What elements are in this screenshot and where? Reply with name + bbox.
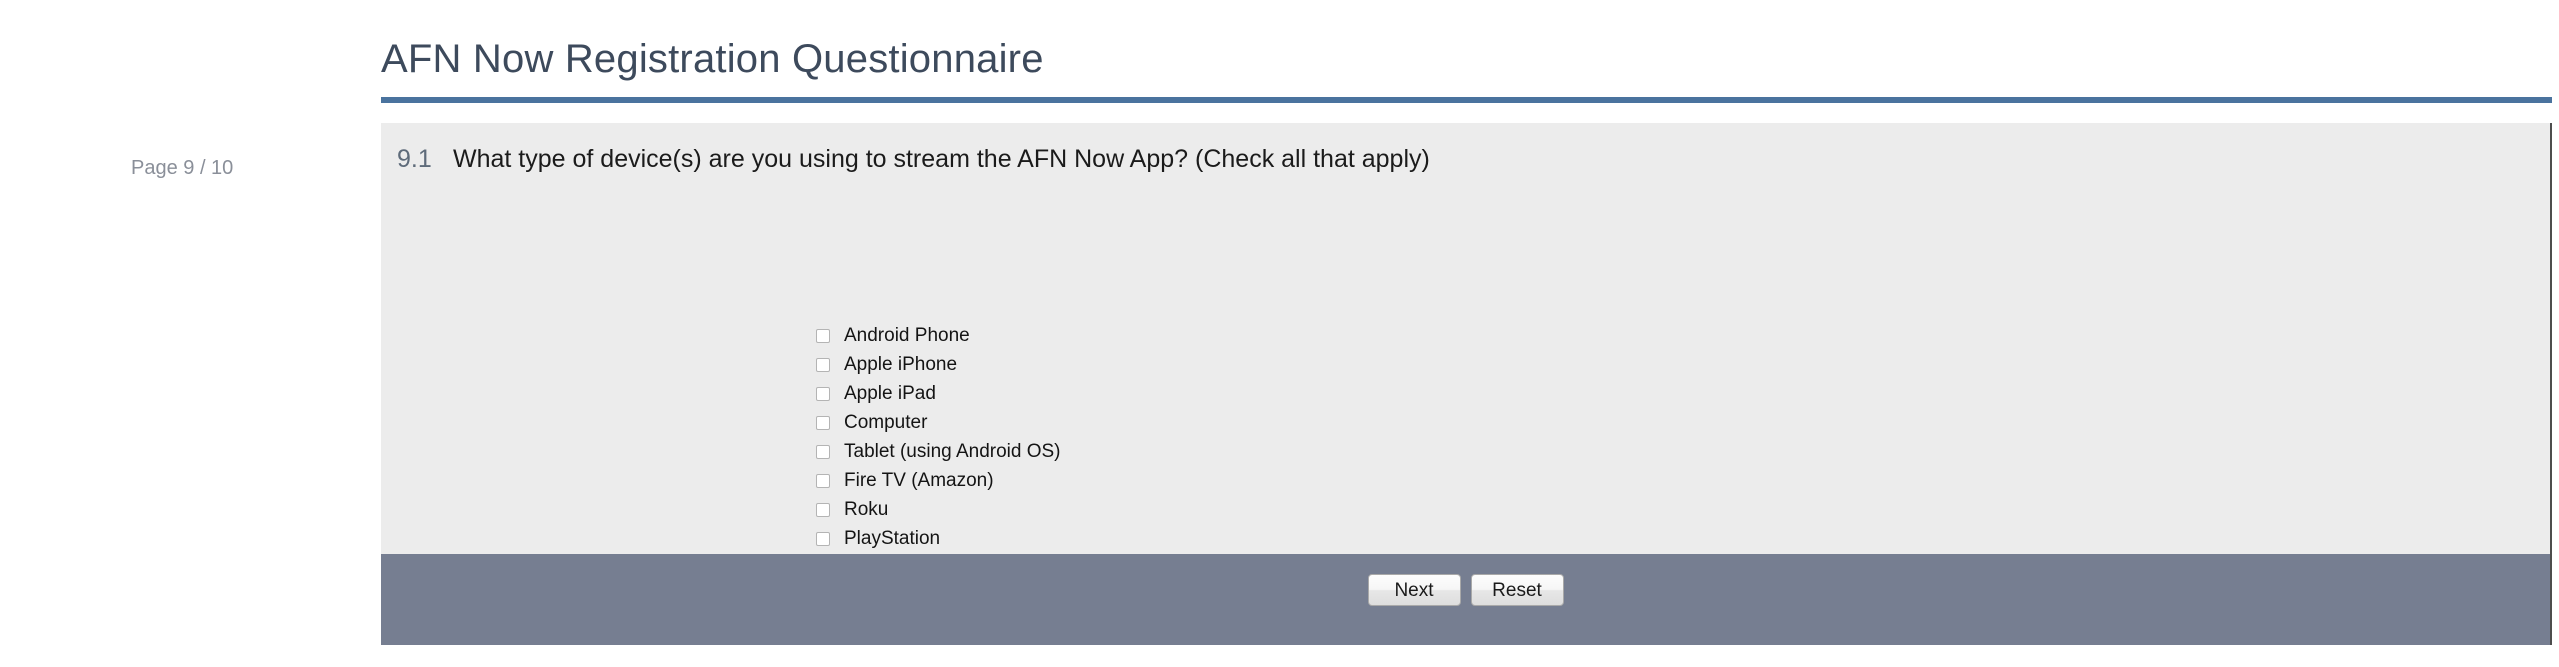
option-label: Computer [844, 413, 927, 432]
page-title: AFN Now Registration Questionnaire [381, 36, 1044, 82]
question-panel: 9.1 What type of device(s) are you using… [381, 123, 2552, 554]
checkbox-icon[interactable] [816, 445, 830, 459]
footer-bar: Next Reset [381, 554, 2552, 645]
option-label: Tablet (using Android OS) [844, 442, 1061, 461]
option-row[interactable]: Tablet (using Android OS) [816, 437, 1136, 466]
checkbox-icon[interactable] [816, 503, 830, 517]
question-number: 9.1 [397, 145, 453, 174]
question-text: What type of device(s) are you using to … [453, 145, 1430, 174]
option-row[interactable]: Apple iPad [816, 379, 1136, 408]
checkbox-icon[interactable] [816, 358, 830, 372]
option-row[interactable]: Android Phone [816, 321, 1136, 350]
option-label: Fire TV (Amazon) [844, 471, 994, 490]
page-counter: Page 9 / 10 [131, 157, 233, 180]
checkbox-icon[interactable] [816, 387, 830, 401]
title-divider [381, 97, 2552, 103]
option-row[interactable]: Fire TV (Amazon) [816, 466, 1136, 495]
option-row[interactable]: Apple iPhone [816, 350, 1136, 379]
next-button[interactable]: Next [1368, 574, 1461, 606]
checkbox-icon[interactable] [816, 474, 830, 488]
footer-button-group: Next Reset [381, 574, 2550, 606]
option-row[interactable]: Roku [816, 495, 1136, 524]
question-heading: 9.1 What type of device(s) are you using… [397, 145, 1430, 174]
reset-button[interactable]: Reset [1471, 574, 1564, 606]
option-label: Roku [844, 500, 888, 519]
checkbox-icon[interactable] [816, 532, 830, 546]
option-label: Apple iPad [844, 384, 936, 403]
option-row[interactable]: Computer [816, 408, 1136, 437]
option-label: PlayStation [844, 529, 940, 548]
checkbox-icon[interactable] [816, 329, 830, 343]
option-row[interactable]: PlayStation [816, 524, 1136, 553]
option-label: Android Phone [844, 326, 970, 345]
option-label: Apple iPhone [844, 355, 957, 374]
checkbox-icon[interactable] [816, 416, 830, 430]
